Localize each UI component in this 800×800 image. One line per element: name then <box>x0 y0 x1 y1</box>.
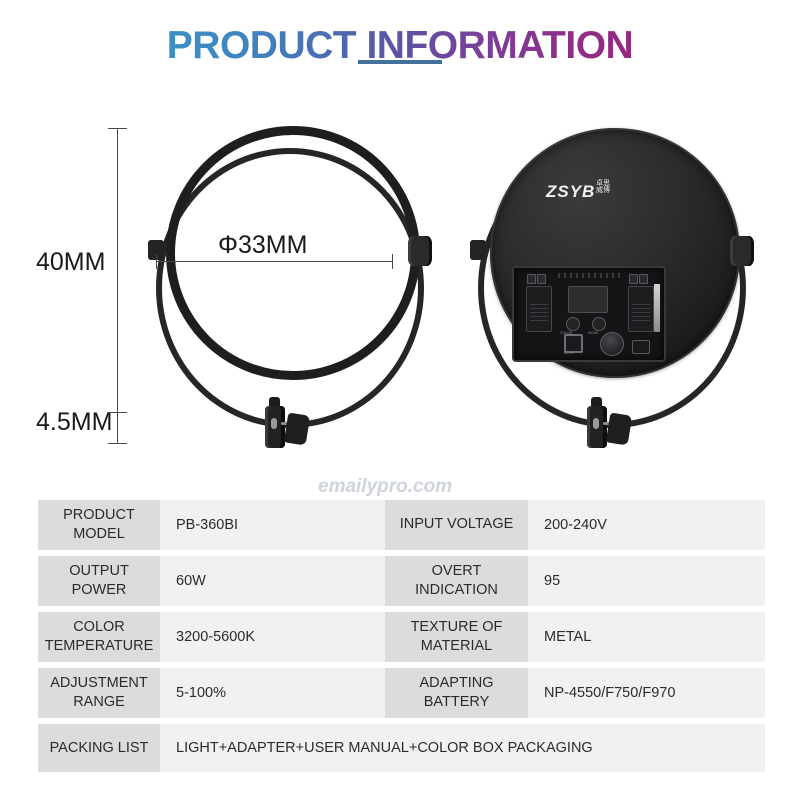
mount-lever-back <box>606 412 632 445</box>
diameter-dimension-line <box>156 261 392 262</box>
brand-logo: ZSYB <box>546 182 595 202</box>
spec-value: PB-360BI <box>160 500 385 550</box>
mount-lever <box>284 412 310 445</box>
battery-plate-left <box>526 286 552 332</box>
packing-list-value: LIGHT+ADAPTER+USER MANUAL+COLOR BOX PACK… <box>160 724 765 772</box>
product-figure: 40MM 4.5MM Φ33MM ZSYB 卓思威博 <box>0 108 800 478</box>
table-row: COLOR TEMPERATURE 3200-5600K TEXTURE OF … <box>38 612 765 662</box>
spec-value: NP-4550/F750/F970 <box>528 668 765 718</box>
spec-value: 60W <box>160 556 385 606</box>
product-image-front-view <box>150 118 440 448</box>
table-row-packing: PACKING LIST LIGHT+ADAPTER+USER MANUAL+C… <box>38 724 765 772</box>
mode-button-label: MODE <box>588 331 599 335</box>
tilt-knob-right-back-icon <box>730 236 754 266</box>
vent-grille-icon <box>558 273 620 278</box>
latch-left-b-icon <box>537 274 546 284</box>
spec-value: 200-240V <box>528 500 765 550</box>
diameter-tick-right <box>392 254 393 269</box>
table-row: PRODUCT MODEL PB-360BI INPUT VOLTAGE 200… <box>38 500 765 550</box>
tilt-knob-right-icon <box>408 236 432 266</box>
latch-right-a-icon <box>629 274 638 284</box>
mount-slot-back <box>593 418 599 429</box>
spec-label: ADJUSTMENT RANGE <box>38 668 160 718</box>
spec-label: OVERT INDICATION <box>385 556 528 606</box>
color-button[interactable] <box>566 317 580 331</box>
product-image-back-view: ZSYB 卓思威博 COLOR MODE DC IN <box>472 118 762 448</box>
mode-button[interactable] <box>592 317 606 331</box>
diameter-dimension-label: Φ33MM <box>218 231 307 260</box>
spec-value: 3200-5600K <box>160 612 385 662</box>
packing-list-label: PACKING LIST <box>38 724 160 772</box>
spec-value: METAL <box>528 612 765 662</box>
control-panel: COLOR MODE DC IN <box>512 266 666 362</box>
battery-plate-right-lines <box>632 303 650 321</box>
height-dimension-label: 40MM <box>36 248 105 277</box>
spec-label: ADAPTING BATTERY <box>385 668 528 718</box>
dc-input-label: DC IN <box>564 351 574 355</box>
brightness-knob[interactable] <box>600 332 624 356</box>
spec-label: COLOR TEMPERATURE <box>38 612 160 662</box>
spec-label: OUTPUT POWER <box>38 556 160 606</box>
dimension-tick-bottom <box>108 443 127 444</box>
spec-label: PRODUCT MODEL <box>38 500 160 550</box>
latch-left-a-icon <box>527 274 536 284</box>
title-underline <box>358 60 442 64</box>
diameter-tick-left <box>156 254 157 269</box>
table-row: OUTPUT POWER 60W OVERT INDICATION 95 <box>38 556 765 606</box>
spec-label: TEXTURE OF MATERIAL <box>385 612 528 662</box>
battery-plate-right <box>628 286 654 332</box>
display-screen <box>568 286 608 313</box>
tilt-bolt-left-back-icon <box>470 240 486 260</box>
latch-right-b-icon <box>639 274 648 284</box>
metal-strip-icon <box>654 284 660 332</box>
spec-value: 5-100% <box>160 668 385 718</box>
dimension-tick-top <box>108 128 127 129</box>
battery-plate-left-lines <box>530 303 548 321</box>
page-title-part1: PRODUCT <box>167 24 367 67</box>
aux-port-icon <box>632 340 650 354</box>
height-dimension-line <box>117 128 118 443</box>
depth-dimension-label: 4.5MM <box>36 408 112 437</box>
brand-logo-sub-icon: 卓思威博 <box>596 180 610 195</box>
watermark: emailypro.com <box>318 476 452 498</box>
spec-value: 95 <box>528 556 765 606</box>
mount-slot <box>271 418 277 429</box>
specification-table: PRODUCT MODEL PB-360BI INPUT VOLTAGE 200… <box>38 500 765 772</box>
table-row: ADJUSTMENT RANGE 5-100% ADAPTING BATTERY… <box>38 668 765 718</box>
spec-label: INPUT VOLTAGE <box>385 500 528 550</box>
